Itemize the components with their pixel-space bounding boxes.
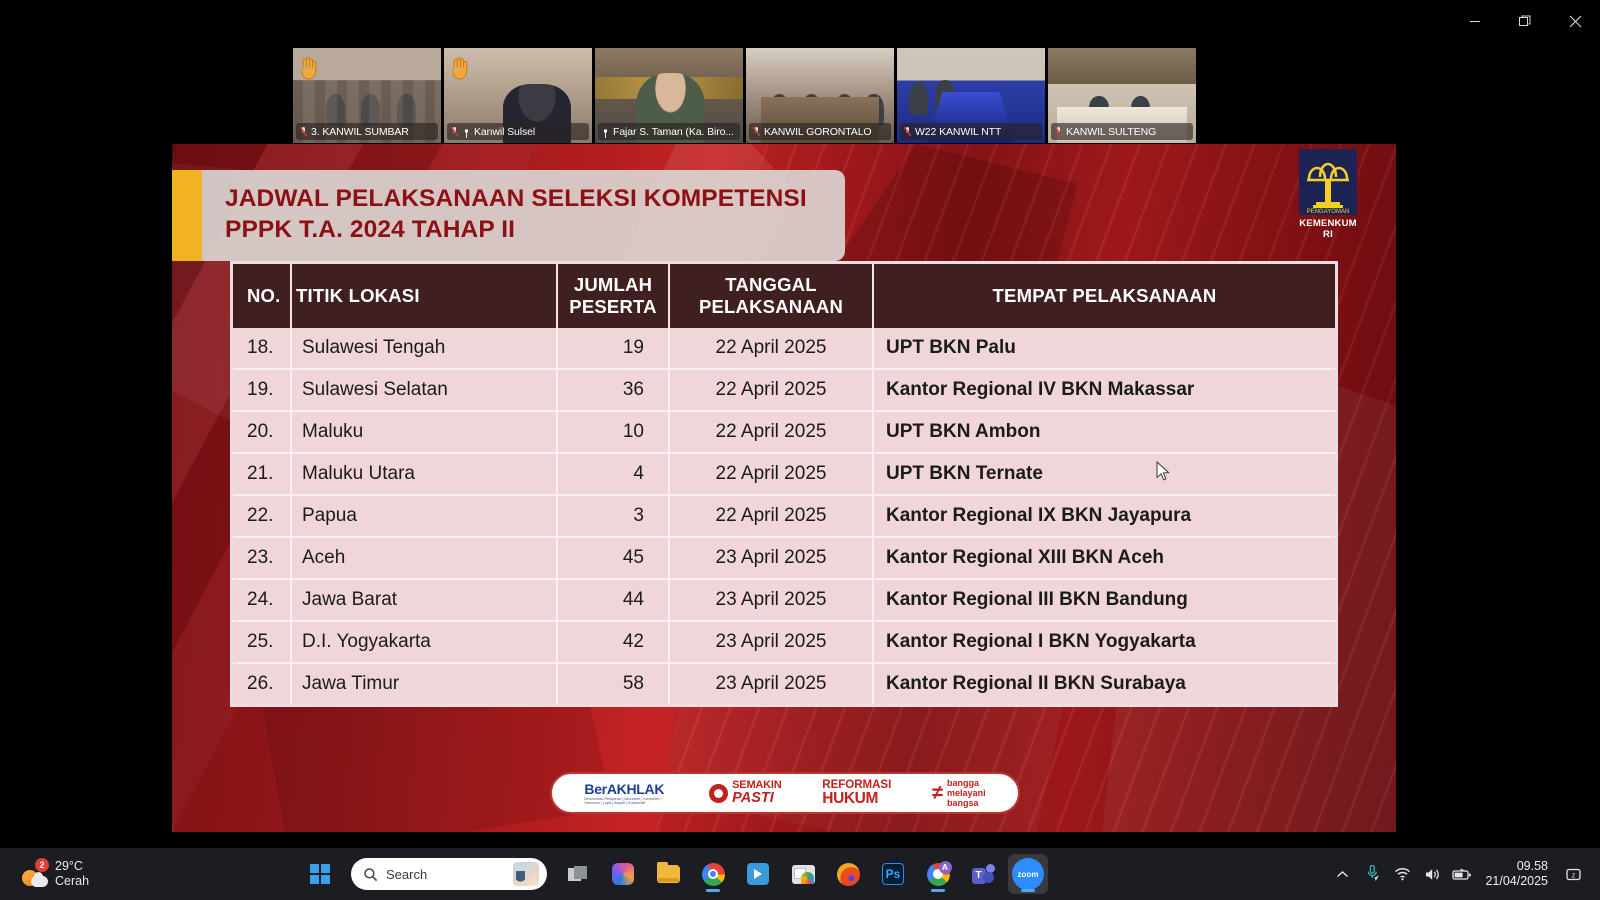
microphone-indicator[interactable]	[1359, 859, 1385, 889]
restore-button[interactable]	[1500, 0, 1550, 42]
table-header-row: NO. TITIK LOKASI JUMLAH PESERTA TANGGAL …	[233, 264, 1335, 328]
cell-titik-lokasi: Sulawesi Tengah	[291, 328, 557, 369]
notifications-button[interactable]: z	[1560, 859, 1586, 889]
participant-name: Fajar S. Taman (Ka. Biro...	[613, 126, 734, 138]
svg-text:PENGAYOMAN: PENGAYOMAN	[1307, 209, 1350, 215]
microsoft-teams-button[interactable]: T	[963, 854, 1003, 894]
logo-semakin-pasti: SEMAKIN PASTI	[709, 780, 781, 806]
microphone-muted-icon	[1054, 126, 1063, 137]
cell-no: 21.	[233, 453, 291, 495]
search-box[interactable]: Search	[351, 858, 547, 890]
kemenkum-logo-label: KEMENKUM RI	[1296, 218, 1360, 240]
do-not-disturb-icon: z	[1565, 866, 1582, 883]
logo-reformasi-hukum: REFORMASI HUKUM	[822, 780, 891, 807]
cell-jumlah-peserta: 42	[557, 621, 669, 663]
bangga-mark-icon: ≠	[932, 785, 943, 801]
cell-titik-lokasi: Papua	[291, 495, 557, 537]
table-row: 20.Maluku1022 April 2025UPT BKN Ambon	[233, 411, 1335, 453]
search-highlight-thumbnail[interactable]	[513, 862, 539, 886]
microphone-muted-icon	[299, 126, 308, 137]
table-row: 18.Sulawesi Tengah1922 April 2025UPT BKN…	[233, 328, 1335, 369]
system-tray[interactable]: 09.58 21/04/2025 z	[1329, 859, 1600, 889]
pengayoman-emblem-badge: PENGAYOMAN	[1299, 149, 1357, 215]
close-icon	[1569, 15, 1582, 28]
cell-tanggal-pelaksanaan: 23 April 2025	[669, 579, 873, 621]
table-body: 18.Sulawesi Tengah1922 April 2025UPT BKN…	[233, 328, 1335, 704]
slide-title-block: JADWAL PELAKSANAAN SELEKSI KOMPETENSI PP…	[172, 170, 845, 261]
cell-titik-lokasi: Aceh	[291, 537, 557, 579]
cell-no: 23.	[233, 537, 291, 579]
participant-label: Fajar S. Taman (Ka. Biro...	[598, 123, 740, 140]
participant-label: Kanwil Sulsel	[447, 123, 589, 140]
mouse-cursor	[1156, 461, 1170, 482]
zoom-button[interactable]: zoom	[1008, 854, 1048, 894]
cell-tanggal-pelaksanaan: 23 April 2025	[669, 537, 873, 579]
search-placeholder: Search	[386, 867, 505, 882]
media-player-button[interactable]	[738, 854, 778, 894]
cell-no: 26.	[233, 663, 291, 704]
cell-tanggal-pelaksanaan: 22 April 2025	[669, 328, 873, 369]
column-header-titik-lokasi: TITIK LOKASI	[291, 264, 557, 328]
table-row: 22.Papua322 April 2025Kantor Regional IX…	[233, 495, 1335, 537]
cell-jumlah-peserta: 19	[557, 328, 669, 369]
clock-time: 09.58	[1485, 859, 1548, 874]
weather-badge: 2	[35, 858, 49, 872]
show-hidden-icons-button[interactable]	[1329, 859, 1355, 889]
footer-logo-strip: BerAKHLAK Berorientasi Pelayanan | Akunt…	[550, 772, 1020, 814]
cell-tempat-pelaksanaan: Kantor Regional IX BKN Jayapura	[873, 495, 1335, 537]
weather-icon: 2	[22, 861, 48, 887]
cell-jumlah-peserta: 45	[557, 537, 669, 579]
participant-tile[interactable]: KANWIL GORONTALO	[746, 48, 894, 143]
participant-name: 3. KANWIL SUMBAR	[311, 126, 409, 138]
cell-tempat-pelaksanaan: Kantor Regional III BKN Bandung	[873, 579, 1335, 621]
shared-presentation-slide[interactable]: JADWAL PELAKSANAAN SELEKSI KOMPETENSI PP…	[172, 144, 1396, 832]
table-row: 23.Aceh4523 April 2025Kantor Regional XI…	[233, 537, 1335, 579]
table-row: 26.Jawa Timur5823 April 2025Kantor Regio…	[233, 663, 1335, 704]
chrome-icon	[702, 863, 725, 886]
windows-logo-icon	[310, 864, 330, 884]
start-button[interactable]	[300, 854, 340, 894]
speaker-icon	[1424, 867, 1441, 882]
slide-title-line-1: JADWAL PELAKSANAAN SELEKSI KOMPETENSI	[225, 183, 807, 214]
cell-no: 22.	[233, 495, 291, 537]
microphone-muted-icon	[450, 126, 459, 137]
window-controls	[1450, 0, 1600, 42]
participant-label: W22 KANWIL NTT	[900, 123, 1042, 140]
svg-text:z: z	[1571, 870, 1575, 879]
battery-indicator[interactable]	[1449, 859, 1475, 889]
desktop-screen: 3. KANWIL SUMBAR Kanwil Sulsel	[0, 0, 1600, 900]
pengayoman-emblem-icon: PENGAYOMAN	[1301, 153, 1355, 215]
wifi-icon	[1394, 867, 1411, 881]
task-view-button[interactable]	[558, 854, 598, 894]
weather-temperature: 29°C	[55, 859, 89, 874]
column-header-jumlah-peserta: JUMLAH PESERTA	[557, 264, 669, 328]
file-explorer-button[interactable]	[648, 854, 688, 894]
cell-tanggal-pelaksanaan: 22 April 2025	[669, 453, 873, 495]
cell-titik-lokasi: Sulawesi Selatan	[291, 369, 557, 411]
participant-tile-active[interactable]: Fajar S. Taman (Ka. Biro...	[595, 48, 743, 143]
table-row: 19.Sulawesi Selatan3622 April 2025Kantor…	[233, 369, 1335, 411]
task-view-icon	[568, 866, 588, 883]
cell-titik-lokasi: D.I. Yogyakarta	[291, 621, 557, 663]
cell-tanggal-pelaksanaan: 22 April 2025	[669, 369, 873, 411]
cell-titik-lokasi: Maluku Utara	[291, 453, 557, 495]
participant-name: KANWIL SULTENG	[1066, 126, 1156, 138]
participant-filmstrip[interactable]: 3. KANWIL SUMBAR Kanwil Sulsel	[293, 48, 1275, 143]
cell-no: 19.	[233, 369, 291, 411]
restore-icon	[1519, 15, 1532, 28]
participant-tile[interactable]: Kanwil Sulsel	[444, 48, 592, 143]
column-header-tempat-pelaksanaan: TEMPAT PELAKSANAAN	[873, 264, 1335, 328]
cell-jumlah-peserta: 36	[557, 369, 669, 411]
photos-icon	[792, 865, 815, 884]
microphone-muted-icon	[752, 126, 761, 137]
folder-icon	[657, 865, 680, 883]
participant-label: KANWIL SULTENG	[1051, 123, 1193, 140]
cell-tanggal-pelaksanaan: 23 April 2025	[669, 663, 873, 704]
participant-label: 3. KANWIL SUMBAR	[296, 123, 438, 140]
participant-name: W22 KANWIL NTT	[915, 126, 1001, 138]
cell-jumlah-peserta: 4	[557, 453, 669, 495]
column-header-no: NO.	[233, 264, 291, 328]
zoom-icon: zoom	[1012, 858, 1044, 890]
schedule-table-wrapper: NO. TITIK LOKASI JUMLAH PESERTA TANGGAL …	[230, 261, 1338, 707]
photos-button[interactable]	[783, 854, 823, 894]
close-button[interactable]	[1550, 0, 1600, 42]
photoshop-icon: Ps	[882, 863, 904, 885]
title-plate: JADWAL PELAKSANAAN SELEKSI KOMPETENSI PP…	[202, 170, 845, 261]
cell-jumlah-peserta: 3	[557, 495, 669, 537]
minimize-button[interactable]	[1450, 0, 1500, 42]
cell-tanggal-pelaksanaan: 22 April 2025	[669, 495, 873, 537]
teams-icon: T	[972, 864, 995, 885]
pin-icon	[601, 126, 610, 137]
participant-name: Kanwil Sulsel	[474, 126, 535, 138]
cell-jumlah-peserta: 44	[557, 579, 669, 621]
cell-tempat-pelaksanaan: Kantor Regional I BKN Yogyakarta	[873, 621, 1335, 663]
photoshop-button[interactable]: Ps	[873, 854, 913, 894]
kemenkumham-seal-icon	[709, 784, 728, 803]
cell-jumlah-peserta: 58	[557, 663, 669, 704]
cell-titik-lokasi: Maluku	[291, 411, 557, 453]
cell-tempat-pelaksanaan: UPT BKN Ternate	[873, 453, 1335, 495]
cell-no: 20.	[233, 411, 291, 453]
cell-tempat-pelaksanaan: Kantor Regional IV BKN Makassar	[873, 369, 1335, 411]
cell-titik-lokasi: Jawa Timur	[291, 663, 557, 704]
google-chrome-button[interactable]	[693, 854, 733, 894]
copilot-icon	[612, 863, 634, 885]
battery-icon	[1452, 868, 1472, 881]
search-icon	[363, 867, 378, 882]
media-player-icon	[747, 863, 769, 885]
raise-hand-icon	[299, 56, 319, 80]
column-header-tanggal-pelaksanaan: TANGGAL PELAKSANAAN	[669, 264, 873, 328]
microphone-muted-icon	[903, 126, 912, 137]
clock-date: 21/04/2025	[1485, 874, 1548, 889]
cell-tempat-pelaksanaan: UPT BKN Palu	[873, 328, 1335, 369]
title-accent-bar	[172, 170, 202, 261]
firefox-icon	[837, 863, 860, 886]
table-row: 24.Jawa Barat4423 April 2025Kantor Regio…	[233, 579, 1335, 621]
chrome-profile-icon: A	[927, 863, 950, 886]
logo-berakhlak: BerAKHLAK Berorientasi Pelayanan | Akunt…	[584, 781, 668, 806]
chrome-profile-button[interactable]: A	[918, 854, 958, 894]
weather-condition: Cerah	[55, 874, 89, 889]
cell-tempat-pelaksanaan: Kantor Regional XIII BKN Aceh	[873, 537, 1335, 579]
network-indicator[interactable]	[1389, 859, 1415, 889]
minimize-icon	[1469, 15, 1481, 27]
logo-bangga-melayani-bangsa: ≠ bangga melayani bangsa	[932, 778, 986, 808]
taskbar[interactable]: 2 29°C Cerah Search	[0, 848, 1600, 900]
cell-tempat-pelaksanaan: UPT BKN Ambon	[873, 411, 1335, 453]
taskbar-apps[interactable]: Search Ps A	[300, 854, 1048, 894]
volume-indicator[interactable]	[1419, 859, 1445, 889]
cell-jumlah-peserta: 10	[557, 411, 669, 453]
microphone-icon	[1364, 865, 1380, 883]
schedule-table: NO. TITIK LOKASI JUMLAH PESERTA TANGGAL …	[233, 264, 1335, 704]
cell-titik-lokasi: Jawa Barat	[291, 579, 557, 621]
participant-name: KANWIL GORONTALO	[764, 126, 872, 138]
weather-widget[interactable]: 2 29°C Cerah	[0, 859, 300, 889]
cell-no: 18.	[233, 328, 291, 369]
copilot-button[interactable]	[603, 854, 643, 894]
cell-tanggal-pelaksanaan: 23 April 2025	[669, 621, 873, 663]
participant-tile[interactable]: 3. KANWIL SUMBAR	[293, 48, 441, 143]
participant-tile[interactable]: KANWIL SULTENG	[1048, 48, 1196, 143]
table-header: NO. TITIK LOKASI JUMLAH PESERTA TANGGAL …	[233, 264, 1335, 328]
chevron-up-icon	[1336, 870, 1349, 879]
firefox-button[interactable]	[828, 854, 868, 894]
kemenkum-logo: PENGAYOMAN KEMENKUM RI	[1296, 149, 1360, 240]
slide-title-line-2: PPPK T.A. 2024 TAHAP II	[225, 214, 807, 245]
cell-tempat-pelaksanaan: Kantor Regional II BKN Surabaya	[873, 663, 1335, 704]
raise-hand-icon	[450, 56, 470, 80]
pin-icon	[462, 126, 471, 137]
cell-tanggal-pelaksanaan: 22 April 2025	[669, 411, 873, 453]
cell-no: 25.	[233, 621, 291, 663]
participant-tile[interactable]: W22 KANWIL NTT	[897, 48, 1045, 143]
cell-no: 24.	[233, 579, 291, 621]
clock[interactable]: 09.58 21/04/2025	[1479, 859, 1556, 889]
participant-label: KANWIL GORONTALO	[749, 123, 891, 140]
table-row: 25.D.I. Yogyakarta4223 April 2025Kantor …	[233, 621, 1335, 663]
